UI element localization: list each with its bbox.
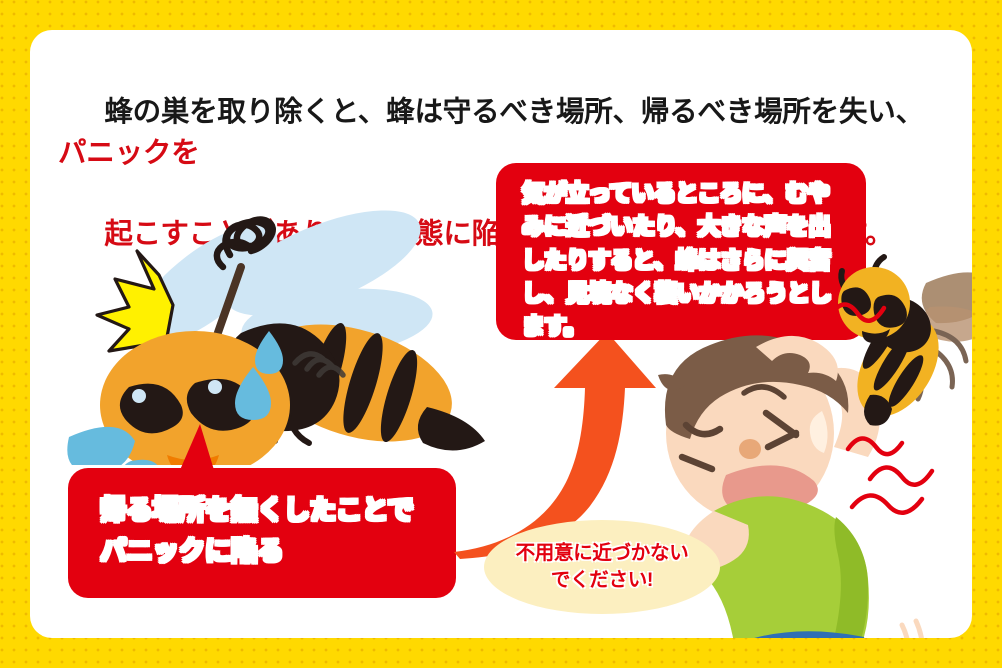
badge-line-2: でください!: [551, 567, 653, 594]
impact-squiggle-icon-top: [820, 282, 910, 342]
speech-bubble-tail: [180, 424, 214, 470]
badge-line-1: 不用意に近づかない: [516, 540, 689, 567]
bubble-line-2: パニックに陥る: [100, 531, 456, 572]
bee-small-illustration: [830, 245, 972, 440]
poster-canvas: 蜂の巣を取り除くと、蜂は守るべき場所、帰るべき場所を失い、パニックを 起こすこと…: [0, 0, 1002, 668]
headline-black-text: 蜂の巣を取り除くと、蜂は守るべき場所、帰るべき場所を失い、: [104, 96, 924, 128]
bubble-warning-text: 気が立っているところに、むやみに近づいたり、大きな声を出したりすると、蜂はさらに…: [522, 181, 831, 339]
speech-bubble-panic: 帰る場所を無くしたことで パニックに陥る: [68, 468, 456, 598]
speech-bubble-warning: 気が立っているところに、むやみに近づいたり、大きな声を出したりすると、蜂はさらに…: [496, 163, 866, 340]
bee-large-illustration: [55, 155, 505, 465]
status-badge-warning: 不用意に近づかない でください!: [484, 520, 720, 614]
impact-squiggle-icon: [830, 415, 972, 525]
bubble-line-1: 帰る場所を無くしたことで: [100, 490, 456, 531]
white-content-card: 蜂の巣を取り除くと、蜂は守るべき場所、帰るべき場所を失い、パニックを 起こすこと…: [30, 30, 972, 638]
